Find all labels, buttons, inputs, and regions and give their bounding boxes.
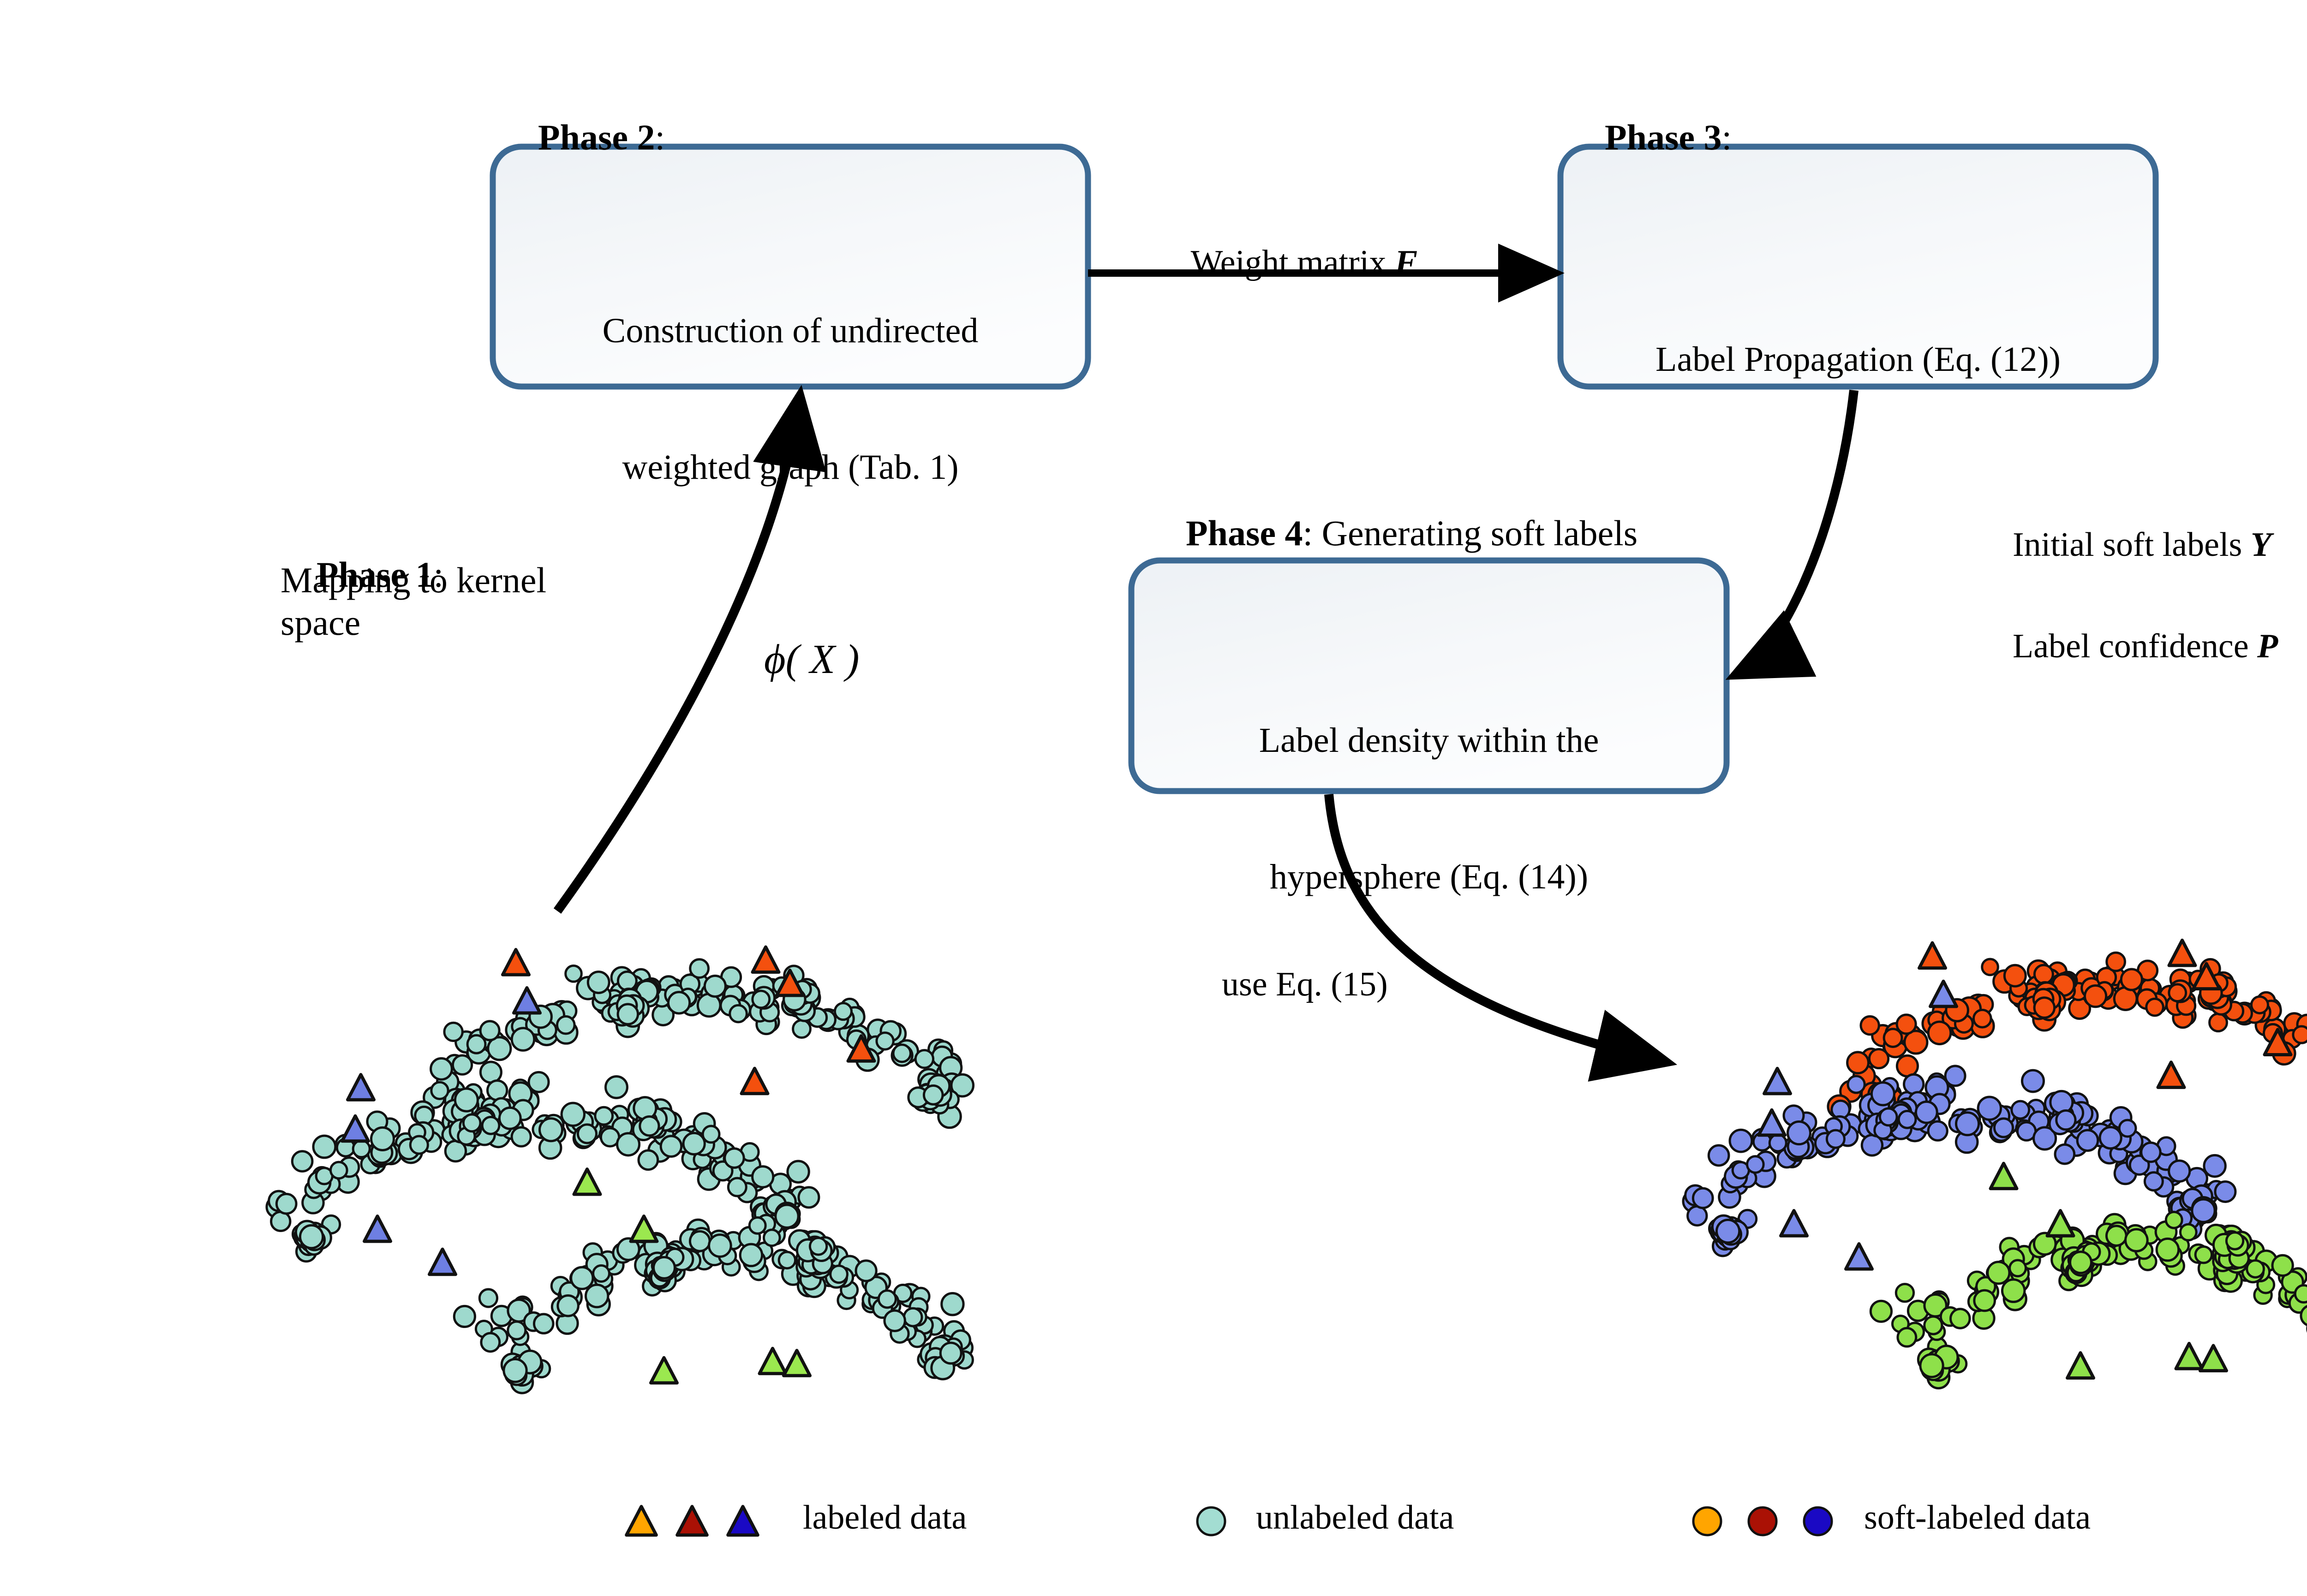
scatter-point — [1747, 1156, 1763, 1173]
scatter-point — [2004, 965, 2026, 986]
legend-item-soft-labeled-label: soft-labeled data — [1864, 1498, 2091, 1537]
edge-label-label-confidence: Label confidence P — [1978, 582, 2278, 710]
scatter-point — [313, 1136, 335, 1158]
scatter-point — [2215, 1182, 2235, 1202]
scatter-point — [504, 1359, 526, 1382]
scatter-point — [593, 1265, 610, 1281]
scatter-point — [508, 1322, 526, 1339]
scatter-point — [1709, 1145, 1729, 1166]
right-scatter-plot — [1683, 940, 2307, 1388]
edge-label-phi-map: ϕ( X ) — [764, 636, 860, 683]
scatter-point — [709, 1235, 731, 1257]
scatter-point — [2119, 1120, 2136, 1137]
scatter-point — [558, 1295, 579, 1316]
scatter-point — [2107, 953, 2125, 971]
legend-triangle-1 — [677, 1507, 707, 1535]
scatter-point — [2034, 998, 2055, 1018]
scatter-point — [463, 1114, 480, 1131]
scatter-point — [753, 1167, 773, 1187]
phase2-heading-rest: : — [655, 117, 665, 157]
scatter-point — [1871, 1083, 1894, 1105]
scatter-point — [2141, 1143, 2160, 1161]
scatter-point — [2056, 1110, 2075, 1129]
scatter-point — [725, 1149, 744, 1167]
scatter-point — [454, 1306, 475, 1327]
scatter-point — [831, 1266, 848, 1283]
scatter-point — [740, 1244, 762, 1266]
scatter-point — [728, 1178, 746, 1196]
scatter-point — [455, 1089, 478, 1111]
labeled-point-marker — [2200, 1346, 2227, 1371]
phase2-heading-bold: Phase 2 — [538, 117, 655, 157]
scatter-point — [639, 1150, 658, 1170]
edge-label-use-eq15: use Eq. (15) — [1222, 963, 1388, 1006]
labeled-point-marker — [741, 1068, 768, 1094]
scatter-point — [1956, 1113, 1978, 1135]
scatter-point — [1716, 1220, 1739, 1243]
scatter-point — [2293, 1026, 2307, 1043]
scatter-point — [2106, 1226, 2126, 1246]
scatter-point — [788, 1161, 809, 1182]
left-scatter-plot — [267, 947, 974, 1393]
scatter-point — [353, 1141, 370, 1157]
scatter-point — [705, 976, 725, 996]
scatter-point — [467, 1035, 485, 1053]
scatter-point — [915, 1050, 933, 1068]
scatter-point — [605, 1076, 627, 1098]
phase3-box-line1: Label Propagation (Eq. (12)) — [1560, 337, 2156, 382]
legend-circle-soft-1 — [1749, 1507, 1776, 1535]
scatter-point — [1924, 1316, 1942, 1334]
scatter-point — [1827, 1130, 1844, 1148]
scatter-point — [1884, 1029, 1902, 1047]
scatter-point — [330, 1162, 347, 1179]
scatter-point — [893, 1045, 910, 1062]
scatter-point — [2145, 1173, 2163, 1191]
scatter-point — [2247, 1260, 2264, 1277]
scatter-point — [904, 1308, 922, 1326]
scatter-point — [2055, 1144, 2074, 1164]
scatter-point — [300, 1225, 323, 1248]
label-confidence-text: Label confidence — [2013, 627, 2257, 665]
scatter-point — [292, 1151, 312, 1172]
scatter-point — [431, 1082, 448, 1099]
phase2-box-line1: Construction of undirected — [493, 308, 1088, 354]
scatter-point — [877, 1033, 893, 1049]
scatter-point — [2010, 1260, 2026, 1276]
scatter-point — [793, 1020, 811, 1038]
phase4-box-line2: hypersphere (Eq. (14)) — [1131, 854, 1727, 900]
scatter-point — [690, 1231, 710, 1251]
scatter-point — [1861, 1016, 1879, 1034]
scatter-point — [2077, 1130, 2098, 1151]
labeled-point-marker — [348, 1075, 374, 1100]
scatter-point — [2295, 1285, 2307, 1302]
scatter-point — [431, 1058, 452, 1079]
legend-triangle-2 — [728, 1507, 758, 1535]
labeled-point-marker — [2158, 1062, 2184, 1088]
initial-soft-labels-text: Initial soft labels — [2013, 526, 2251, 564]
scatter-point — [276, 1194, 296, 1214]
scatter-point — [654, 1257, 675, 1278]
scatter-point — [764, 1230, 780, 1246]
scatter-point — [1880, 1108, 1897, 1126]
scatter-point — [2012, 1101, 2029, 1119]
scatter-point — [703, 1126, 719, 1143]
scatter-point — [2121, 969, 2142, 990]
phase3-heading-rest: : — [1722, 117, 1732, 157]
scatter-point — [924, 1086, 943, 1105]
scatter-point — [534, 1314, 553, 1334]
scatter-point — [499, 1108, 520, 1129]
scatter-point — [2226, 1233, 2243, 1249]
scatter-point — [2166, 1212, 2182, 1228]
labeled-point-marker — [2169, 940, 2195, 965]
scatter-point — [2272, 1255, 2293, 1275]
labeled-point-marker — [784, 1351, 810, 1376]
labeled-point-marker — [759, 1348, 786, 1374]
scatter-point — [2085, 986, 2106, 1007]
scatter-point — [453, 1055, 472, 1074]
legend-item-unlabeled-label: unlabeled data — [1256, 1498, 1454, 1537]
labeled-point-marker — [2047, 1211, 2074, 1236]
scatter-point — [1787, 1122, 1810, 1144]
edge-label-weight-matrix: Weight matrix F — [1157, 198, 1417, 327]
scatter-point — [444, 1023, 462, 1041]
scatter-point — [1994, 1119, 2013, 1137]
scatter-point — [539, 1119, 562, 1141]
labeled-point-marker — [503, 950, 529, 975]
scatter-point — [512, 1127, 531, 1146]
scatter-point — [2192, 1199, 2215, 1222]
labeled-point-marker — [514, 988, 540, 1013]
labeled-point-marker — [753, 947, 779, 972]
labeled-point-marker — [1846, 1244, 1872, 1269]
scatter-point — [942, 1293, 963, 1315]
scatter-point — [640, 1116, 659, 1135]
phase4-heading-rest: : Generating soft labels — [1303, 513, 1638, 553]
scatter-point — [2204, 1155, 2225, 1176]
scatter-point — [1988, 1262, 2009, 1284]
scatter-point — [2100, 1127, 2121, 1148]
scatter-point — [578, 1125, 596, 1143]
scatter-point — [1869, 1049, 1888, 1068]
scatter-point — [1769, 1135, 1786, 1151]
labeled-point-marker — [1919, 943, 1946, 968]
scatter-point — [595, 1107, 613, 1125]
labeled-point-marker — [342, 1116, 369, 1141]
scatter-point — [2180, 1224, 2196, 1240]
scatter-point — [2169, 984, 2186, 1001]
scatter-point — [835, 1003, 851, 1020]
phase4-box-text[interactable]: Label density within the hypersphere (Eq… — [1131, 626, 1727, 991]
scatter-point — [1897, 1055, 1918, 1076]
labeled-point-marker — [365, 1216, 391, 1241]
scatter-point — [2022, 1070, 2044, 1092]
scatter-point — [2251, 996, 2268, 1013]
scatter-point — [488, 1081, 507, 1100]
legend-item-labeled-label: labeled data — [803, 1498, 967, 1537]
scatter-point — [1916, 1102, 1937, 1123]
scatter-point — [2146, 999, 2164, 1016]
scatter-point — [940, 1343, 961, 1364]
scatter-point — [481, 1333, 500, 1352]
scatter-point — [2195, 1246, 2211, 1263]
phase2-heading: Phase 2: — [502, 74, 665, 201]
scatter-point — [2157, 1239, 2179, 1261]
scatter-point — [618, 1004, 638, 1024]
labeled-point-marker — [1990, 1163, 2017, 1189]
phase3-heading-bold: Phase 3 — [1605, 117, 1722, 157]
scatter-point — [1920, 1354, 1943, 1377]
labeled-point-marker — [631, 1216, 657, 1241]
scatter-point — [571, 1267, 593, 1289]
phase3-box-text[interactable]: Label Propagation (Eq. (12)) — [1560, 245, 2156, 473]
scatter-point — [586, 1285, 608, 1307]
scatter-point — [1974, 1290, 1995, 1311]
phase4-box-line1: Label density within the — [1131, 718, 1727, 763]
scatter-point — [1899, 1111, 1916, 1128]
phase4-heading-bold: Phase 4 — [1186, 513, 1303, 553]
legend-circle-soft-2 — [1804, 1507, 1832, 1535]
scatter-point — [2002, 1280, 2024, 1302]
scatter-point — [856, 1261, 876, 1281]
scatter-point — [1693, 1188, 1713, 1208]
phase3-heading: Phase 3: — [1569, 74, 1732, 201]
scatter-point — [566, 966, 582, 982]
scatter-point — [690, 959, 709, 978]
label-confidence-symbol: P — [2257, 627, 2278, 665]
scatter-point — [1973, 1010, 1991, 1027]
diagram-canvas: Phase 1: Mapping to kernel space Phase 2… — [0, 0, 2307, 1596]
scatter-point — [661, 1136, 681, 1157]
legend-circle-soft-0 — [1693, 1507, 1721, 1535]
scatter-point — [1978, 1097, 2001, 1120]
scatter-point — [2126, 1229, 2148, 1251]
scatter-point — [562, 1103, 584, 1126]
scatter-point — [1904, 1074, 1924, 1094]
scatter-point — [749, 1217, 765, 1233]
scatter-point — [410, 1136, 428, 1154]
scatter-point — [2169, 1161, 2190, 1181]
scatter-point — [2034, 965, 2053, 983]
scatter-point — [482, 1117, 499, 1134]
scatter-point — [1847, 1052, 1869, 1073]
labeled-point-marker — [651, 1358, 677, 1383]
scatter-point — [668, 992, 689, 1013]
scatter-point — [371, 1127, 394, 1150]
initial-soft-labels-symbol: Y — [2251, 526, 2271, 564]
scatter-point — [1871, 1301, 1891, 1322]
scatter-point — [1982, 959, 1998, 975]
labeled-point-marker — [2176, 1344, 2202, 1369]
scatter-point — [588, 972, 609, 993]
legend-triangle-0 — [627, 1507, 657, 1535]
scatter-point — [1730, 1130, 1752, 1152]
scatter-point — [1896, 1284, 1913, 1302]
scatter-point — [1898, 1328, 1916, 1346]
labeled-point-marker — [2068, 1353, 2094, 1378]
scatter-point — [1688, 1206, 1707, 1225]
scatter-point — [683, 1133, 705, 1154]
scatter-point — [512, 1028, 534, 1051]
weight-matrix-symbol: F — [1395, 244, 1417, 281]
labeled-point-marker — [1764, 1068, 1791, 1094]
scatter-point — [1950, 1309, 1970, 1328]
scatter-point — [479, 1289, 497, 1307]
labeled-point-marker — [1930, 981, 1957, 1006]
scatter-point — [1848, 1076, 1865, 1093]
phase2-box-text[interactable]: Construction of undirected weighted grap… — [493, 217, 1088, 581]
scatter-point — [753, 991, 770, 1008]
scatter-point — [776, 1205, 798, 1227]
scatter-point — [1928, 1121, 1947, 1140]
labeled-point-marker — [574, 1169, 600, 1195]
scatter-point — [799, 1187, 819, 1208]
weight-matrix-text: Weight matrix — [1191, 244, 1395, 281]
scatter-point — [779, 1252, 795, 1268]
scatter-point — [879, 1291, 896, 1308]
scatter-point — [618, 972, 636, 990]
scatter-point — [810, 1238, 826, 1255]
scatter-point — [1928, 1022, 1951, 1044]
phase2-box-line2: weighted graph (Tab. 1) — [493, 445, 1088, 490]
labeled-point-marker — [430, 1249, 456, 1274]
labeled-point-marker — [1781, 1211, 1807, 1236]
labeled-point-marker — [1759, 1110, 1785, 1135]
legend-circle-unlabeled — [1197, 1507, 1225, 1535]
scatter-point — [2210, 1014, 2227, 1031]
scatter-point — [2070, 1252, 2092, 1273]
scatter-point — [557, 1016, 574, 1034]
phase4-heading: Phase 4: Generating soft labels — [1150, 470, 1638, 597]
scatter-point — [885, 1310, 905, 1331]
scatter-point — [730, 1005, 747, 1022]
